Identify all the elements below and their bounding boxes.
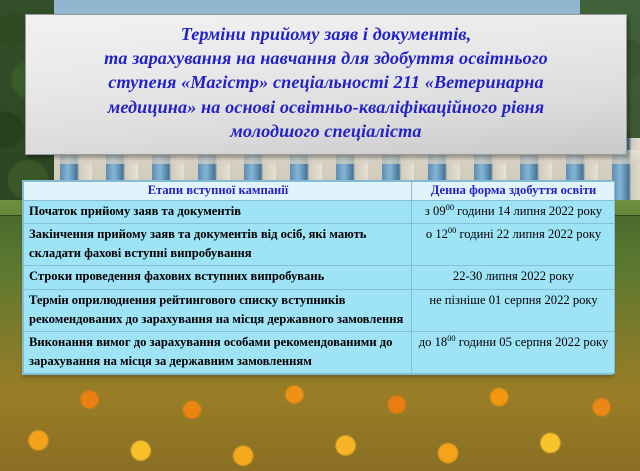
cell-date: з 0900 години 14 липня 2022 року — [412, 201, 615, 224]
schedule-table-container: Етапи вступної кампанії Денна форма здоб… — [22, 180, 613, 375]
cell-stage: Початок прийому заяв та документів — [24, 201, 412, 224]
table-header-row: Етапи вступної кампанії Денна форма здоб… — [24, 182, 615, 201]
cell-stage: Закінчення прийому заяв та документів ві… — [24, 224, 412, 266]
table-body: Початок прийому заяв та документівз 0900… — [24, 201, 615, 374]
table-head: Етапи вступної кампанії Денна форма здоб… — [24, 182, 615, 201]
column-header-stages: Етапи вступної кампанії — [24, 182, 412, 201]
schedule-table: Етапи вступної кампанії Денна форма здоб… — [23, 181, 615, 374]
table-row: Початок прийому заяв та документівз 0900… — [24, 201, 615, 224]
table-row: Виконання вимог до зарахування особами р… — [24, 331, 615, 373]
table-row: Строки проведення фахових вступних випро… — [24, 266, 615, 289]
cell-stage: Строки проведення фахових вступних випро… — [24, 266, 412, 289]
cell-stage: Термін оприлюднення рейтингового списку … — [24, 289, 412, 331]
table-row: Закінчення прийому заяв та документів ві… — [24, 224, 615, 266]
superscript-minutes: 00 — [446, 203, 454, 212]
cell-stage: Виконання вимог до зарахування особами р… — [24, 331, 412, 373]
cell-date: о 1200 годині 22 липня 2022 року — [412, 224, 615, 266]
cell-date: 22-30 липня 2022 року — [412, 266, 615, 289]
table-row: Термін оприлюднення рейтингового списку … — [24, 289, 615, 331]
slide-root: Терміни прийому заяв і документів, та за… — [0, 0, 640, 471]
superscript-minutes: 00 — [447, 334, 455, 343]
title-panel: Терміни прийому заяв і документів, та за… — [25, 14, 627, 155]
column-header-fulltime: Денна форма здобуття освіти — [412, 182, 615, 201]
cell-date: до 1800 години 05 серпня 2022 року — [412, 331, 615, 373]
page-title: Терміни прийому заяв і документів, та за… — [104, 22, 548, 143]
cell-date: не пізніше 01 серпня 2022 року — [412, 289, 615, 331]
superscript-minutes: 00 — [448, 226, 456, 235]
